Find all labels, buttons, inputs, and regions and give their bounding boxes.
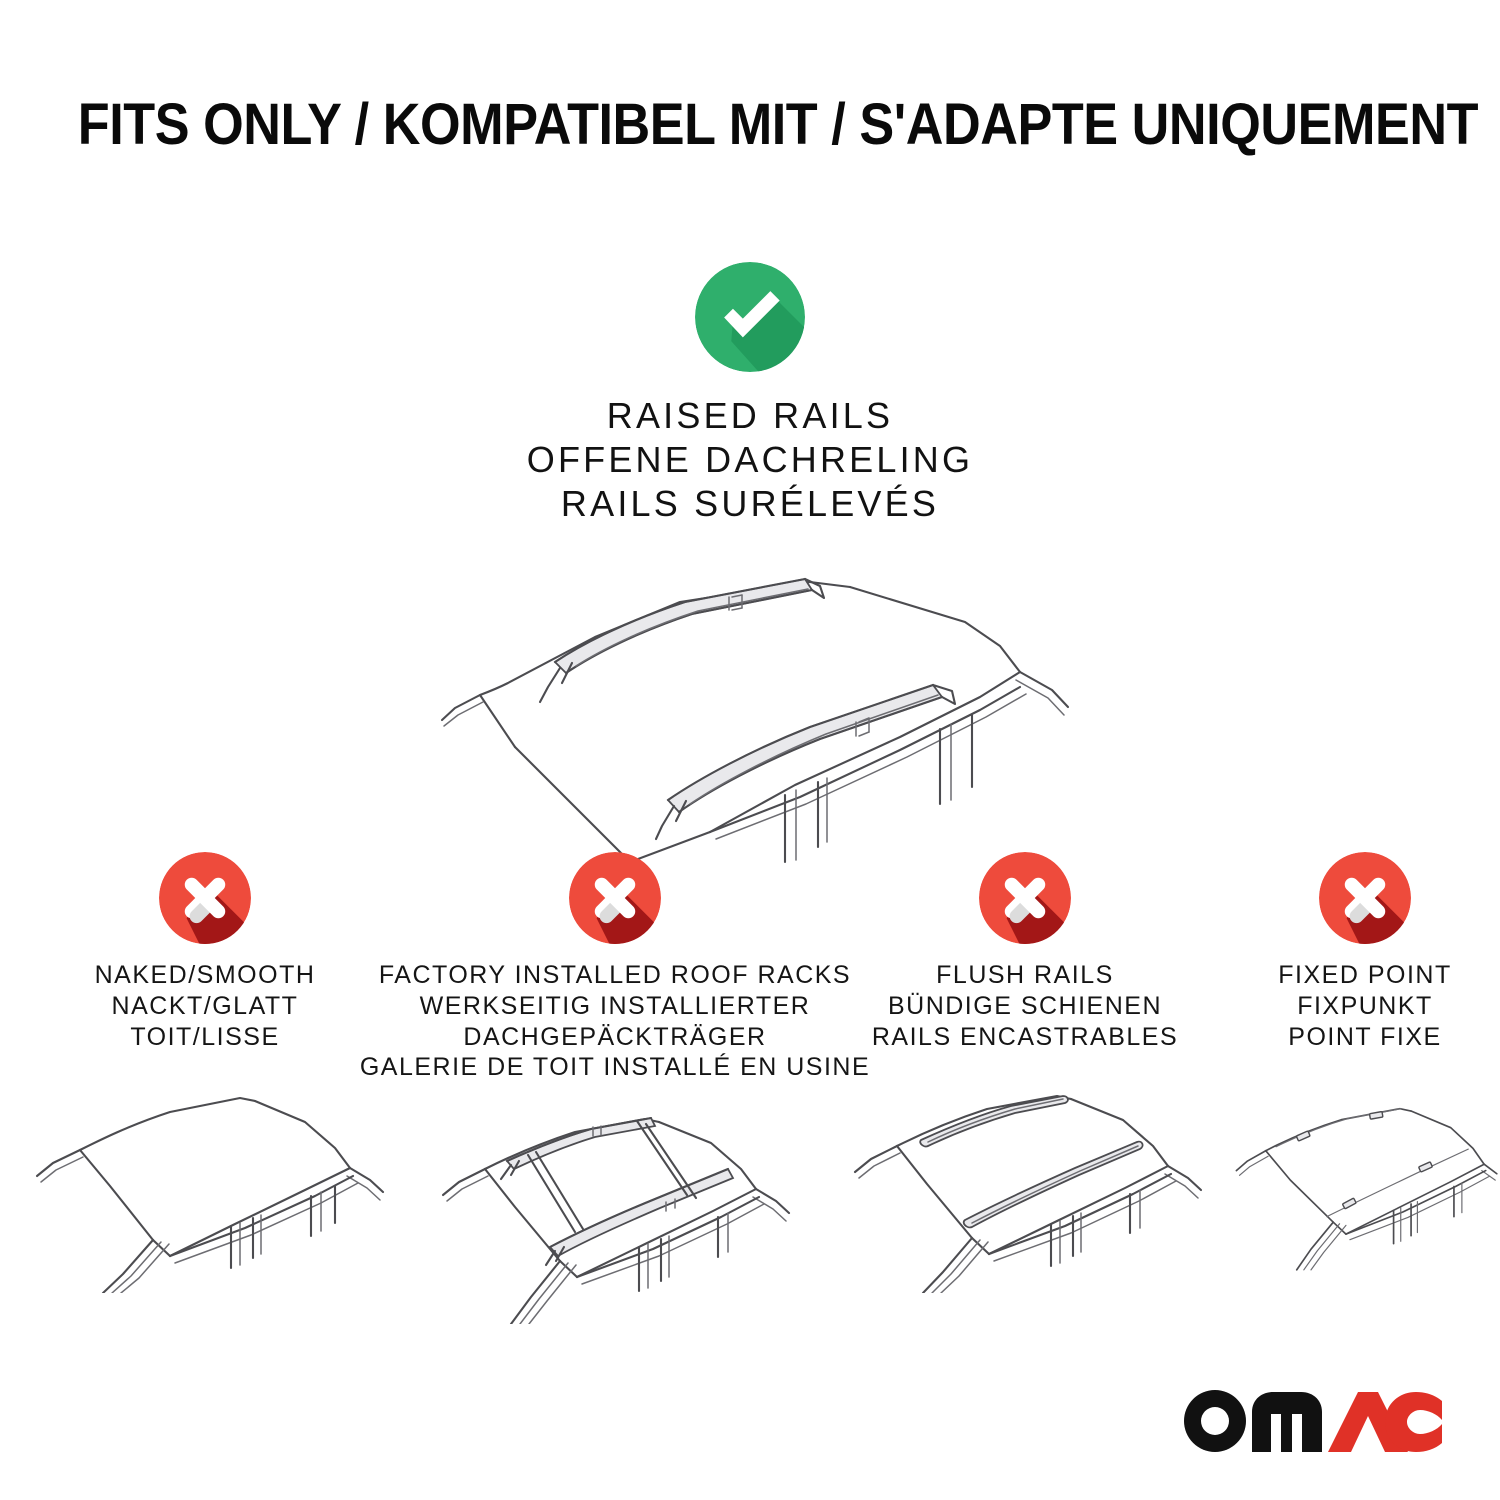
rejected-item-fixed-point: FIXED POINT FIXPUNKT POINT FIXE — [1230, 852, 1500, 1293]
rejected-caption-fixed-point: FIXED POINT FIXPUNKT POINT FIXE — [1278, 960, 1451, 1052]
rejected-caption-factory-roof-racks: FACTORY INSTALLED ROOF RACKS WERKSEITIG … — [360, 960, 870, 1083]
rejected-item-naked-smooth: NAKED/SMOOTH NACKT/GLATT TOIT/LISSE — [0, 852, 410, 1293]
caption-line: FLUSH RAILS — [872, 960, 1178, 991]
cross-circle-icon — [569, 852, 661, 944]
illustration-wrapper — [410, 1099, 820, 1324]
approved-caption-de: OFFENE DACHRELING — [0, 438, 1500, 482]
caption-line: NAKED/SMOOTH — [95, 960, 316, 991]
rejected-caption-naked-smooth: NAKED/SMOOTH NACKT/GLATT TOIT/LISSE — [95, 960, 316, 1052]
caption-line: WERKSEITIG INSTALLIERTER — [360, 991, 870, 1022]
car-roof-fixed-point-illustration — [1230, 1068, 1500, 1293]
page-header: FITS ONLY / KOMPATIBEL MIT / S'ADAPTE UN… — [0, 96, 1500, 154]
rejected-fitment-row: NAKED/SMOOTH NACKT/GLATT TOIT/LISSE — [0, 852, 1500, 1324]
rejected-item-factory-roof-racks: FACTORY INSTALLED ROOF RACKS WERKSEITIG … — [410, 852, 820, 1324]
logo-letter-o — [1184, 1390, 1246, 1452]
caption-line: POINT FIXE — [1278, 1022, 1451, 1053]
check-circle-icon — [695, 262, 805, 372]
cross-circle-icon — [159, 852, 251, 944]
cross-circle-icon — [979, 852, 1071, 944]
caption-line: RAILS ENCASTRABLES — [872, 1022, 1178, 1053]
illustration-wrapper — [820, 1068, 1230, 1293]
car-roof-flush-rails-illustration — [820, 1068, 1230, 1293]
caption-line: DACHGEPÄCKTRÄGER — [360, 1022, 870, 1053]
rejected-item-flush-rails: FLUSH RAILS BÜNDIGE SCHIENEN RAILS ENCAS… — [820, 852, 1230, 1293]
logo-letter-m — [1252, 1392, 1322, 1452]
caption-line: TOIT/LISSE — [95, 1022, 316, 1053]
caption-line: NACKT/GLATT — [95, 991, 316, 1022]
approved-caption-en: RAISED RAILS — [0, 394, 1500, 438]
caption-line: FACTORY INSTALLED ROOF RACKS — [360, 960, 870, 991]
approved-caption-fr: RAILS SURÉLEVÉS — [0, 482, 1500, 526]
cross-circle-icon — [1319, 852, 1411, 944]
car-roof-naked-smooth-illustration — [0, 1068, 410, 1293]
car-roof-factory-roof-racks-illustration — [410, 1099, 820, 1324]
caption-line: BÜNDIGE SCHIENEN — [872, 991, 1178, 1022]
omac-logo — [1182, 1380, 1442, 1458]
approved-fitment-block: RAISED RAILS OFFENE DACHRELING RAILS SUR… — [0, 262, 1500, 882]
car-roof-raised-rails-illustration — [380, 542, 1120, 882]
page-title: FITS ONLY / KOMPATIBEL MIT / S'ADAPTE UN… — [78, 96, 1478, 154]
caption-line: FIXPUNKT — [1278, 991, 1451, 1022]
rejected-caption-flush-rails: FLUSH RAILS BÜNDIGE SCHIENEN RAILS ENCAS… — [872, 960, 1178, 1052]
logo-letter-c — [1385, 1392, 1442, 1452]
caption-line: FIXED POINT — [1278, 960, 1451, 991]
illustration-wrapper — [0, 1068, 410, 1293]
caption-line: GALERIE DE TOIT INSTALLÉ EN USINE — [360, 1052, 870, 1083]
illustration-wrapper — [1230, 1068, 1500, 1293]
approved-caption: RAISED RAILS OFFENE DACHRELING RAILS SUR… — [0, 394, 1500, 526]
